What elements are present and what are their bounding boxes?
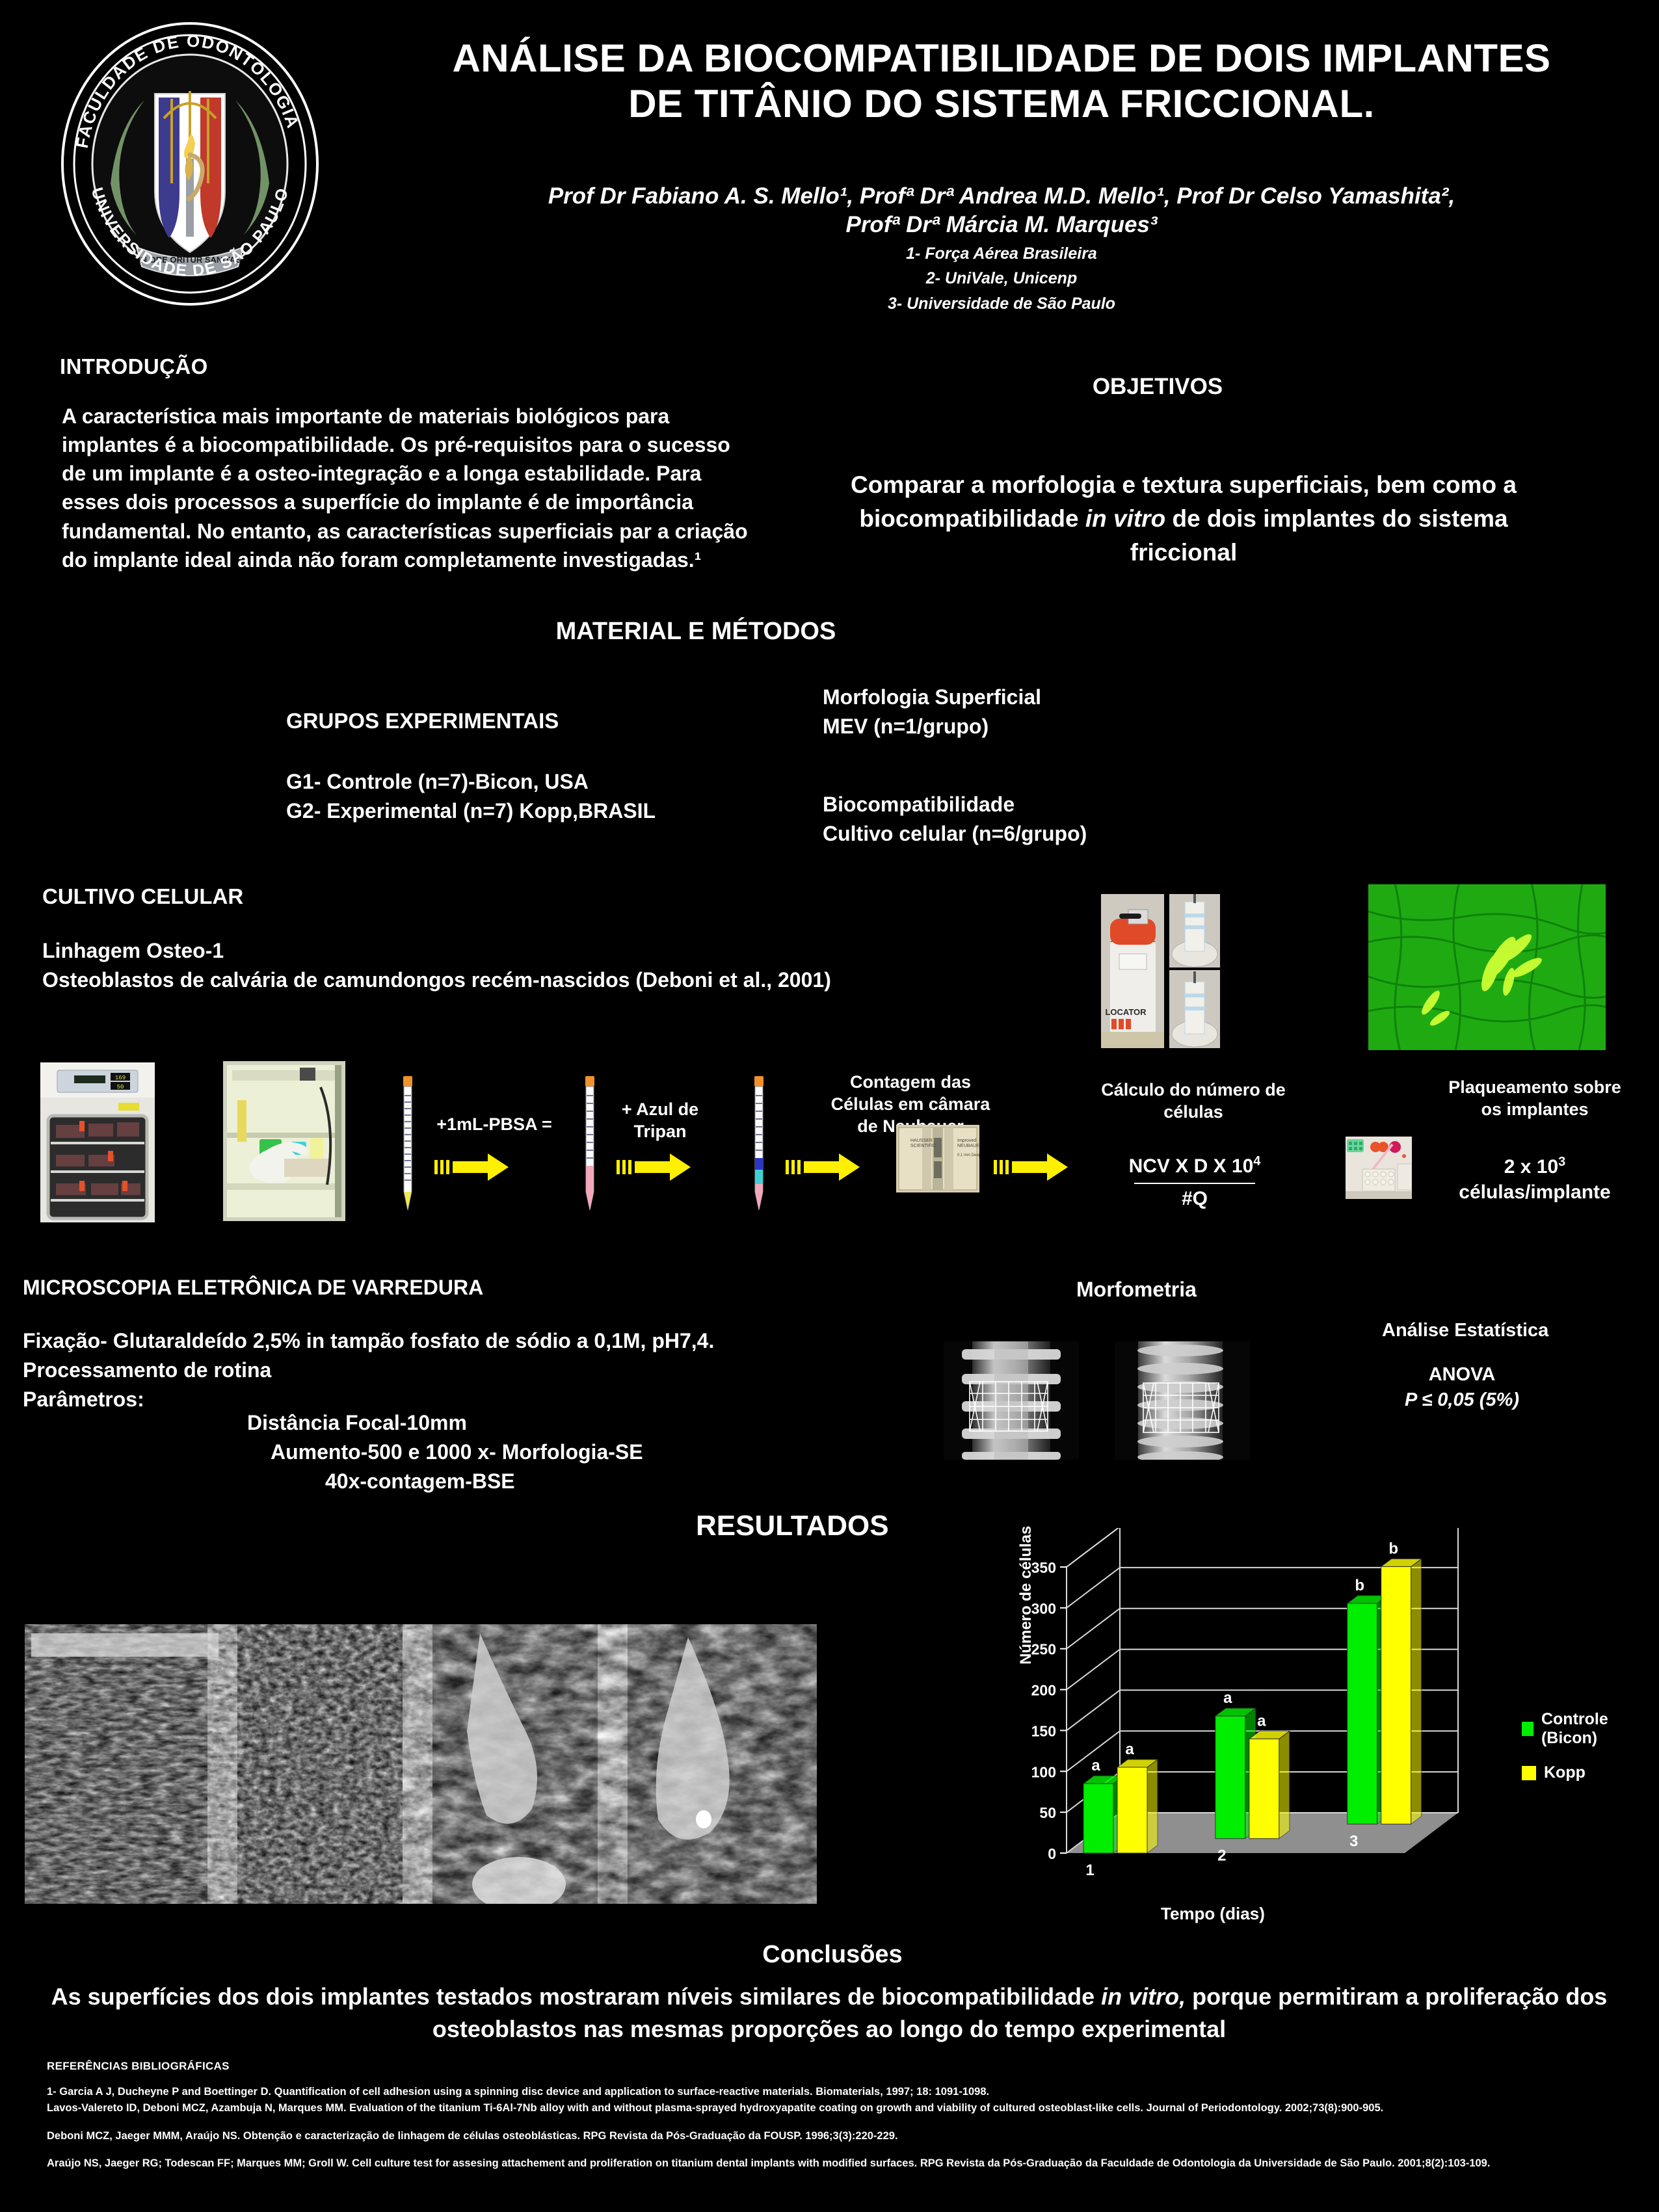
sem-param-1: Distância Focal-10mm (247, 1408, 643, 1438)
biocompatibility-line-1: Biocompatibilidade (823, 790, 1087, 819)
svg-text:0,1 mm Deep: 0,1 mm Deep (957, 1153, 979, 1157)
results-bar-chart: Número de células Tempo (dias) 050100150… (1021, 1528, 1645, 1931)
legend-item-0: Controle (Bicon) (1522, 1710, 1645, 1748)
flow-label-step4: Cálculo do número de células (1099, 1079, 1288, 1124)
references-heading: REFERÊNCIAS BIBLIOGRÁFICAS (47, 2060, 230, 2073)
flow-label-step2: + Azul de Tripan (611, 1099, 709, 1143)
centrifuge-tube-2 (577, 1076, 601, 1219)
formula-numerator: NCV X D X 104 (1113, 1154, 1276, 1178)
chart-legend: Controle (Bicon) Kopp (1522, 1710, 1645, 1798)
photo-plating-multiwell (1346, 1137, 1412, 1199)
legend-label-0: Controle (Bicon) (1541, 1710, 1645, 1748)
svg-text:150: 150 (1031, 1722, 1056, 1739)
sem-parameters: Distância Focal-10mm Aumento-500 e 1000 … (247, 1408, 643, 1495)
legend-label-1: Kopp (1544, 1763, 1586, 1782)
flow-arrow-1 (434, 1151, 512, 1183)
conclusion-heading: Conclusões (650, 1941, 1015, 1969)
svg-text:1: 1 (1085, 1862, 1094, 1879)
reference-4: Araújo NS, Jaeger RG; Todescan FF; Marqu… (47, 2155, 1627, 2172)
methods-heading: MATERIAL E MÉTODOS (468, 618, 923, 646)
implant-micrograph-bicon (944, 1341, 1079, 1460)
svg-text:a: a (1223, 1689, 1232, 1707)
sem-param-2: Aumento-500 e 1000 x- Morfologia-SE (271, 1438, 643, 1467)
photo-neubauer-chamber: HAUSSER SCIENTIFIC Improved NEUBAUER 0,1… (896, 1125, 979, 1192)
formula-denominator: #Q (1113, 1188, 1276, 1210)
objectives-italic: in vitro (1085, 505, 1165, 532)
formula-exponent: 4 (1253, 1154, 1260, 1168)
svg-text:169: 169 (115, 1075, 126, 1081)
objectives-part-2: de dois implantes do sistema friccional (1130, 505, 1508, 566)
legend-item-1: Kopp (1522, 1763, 1645, 1782)
svg-text:NEUBAUER: NEUBAUER (957, 1144, 979, 1148)
conclusion-italic: in vitro, (1101, 1983, 1186, 2010)
experimental-groups-heading: GRUPOS EXPERIMENTAIS (286, 709, 559, 733)
title-line-1: ANÁLISE DA BIOCOMPATIBILIDADE DE DOIS IM… (364, 36, 1639, 81)
photo-nitrogen-tank: LOCATOR (1101, 894, 1164, 1048)
cell-culture-heading: CULTIVO CELULAR (42, 884, 243, 909)
sem-heading: MICROSCOPIA ELETRÔNICA DE VARREDURA (23, 1276, 483, 1300)
svg-text:100: 100 (1031, 1763, 1056, 1780)
flow-label-step1: +1mL-PBSA = (429, 1114, 559, 1136)
plating-exponent: 3 (1558, 1155, 1565, 1169)
svg-text:0: 0 (1048, 1845, 1056, 1862)
chart-x-axis-label: Tempo (dias) (1161, 1904, 1265, 1924)
group-1: G1- Controle (n=7)-Bicon, USA (286, 767, 656, 797)
svg-text:LOCATOR: LOCATOR (1105, 1007, 1147, 1017)
reference-3: Deboni MCZ, Jaeger MMM, Araújo NS. Obten… (47, 2128, 1627, 2144)
legend-swatch-0 (1522, 1722, 1533, 1736)
morphology-line-2: MEV (n=1/grupo) (823, 712, 1041, 741)
flow-arrow-4 (994, 1151, 1072, 1183)
objectives-heading: OBJETIVOS (910, 374, 1405, 400)
conclusion-part-1: As superfícies dos dois implantes testad… (51, 1983, 1102, 2010)
title-line-2: DE TITÂNIO DO SISTEMA FRICCIONAL. (364, 81, 1639, 127)
centrifuge-tube-1 (395, 1076, 419, 1219)
reference-1: 1- Garcia A J, Ducheyne P and Boettinger… (47, 2084, 1627, 2100)
chart-y-axis-label: Número de células (1017, 1526, 1035, 1665)
centrifuge-tube-3 (747, 1076, 770, 1219)
flow-arrow-2 (617, 1151, 695, 1183)
flow-arrow-3 (786, 1151, 864, 1183)
usp-fo-logo: IN ORE ORITUR SANITAS FACULDADE DE ODONT… (60, 21, 320, 307)
conclusion-body: As superfícies dos dois implantes testad… (26, 1981, 1632, 2046)
cell-culture-body: Linhagem Osteo-1 Osteoblastos de calvári… (42, 936, 831, 995)
biocompatibility-line-2: Cultivo celular (n=6/grupo) (823, 819, 1087, 849)
cell-count-formula: NCV X D X 104 #Q (1113, 1154, 1276, 1210)
statistics-p-value: P ≤ 0,05 (5%) (1405, 1388, 1519, 1413)
authors-line-2: Profª Drª Márcia M. Marques³ (364, 211, 1639, 239)
svg-text:a: a (1257, 1712, 1266, 1730)
svg-text:Improved: Improved (957, 1139, 976, 1143)
photo-incubator: 169 50 (40, 1062, 155, 1222)
affiliation-2: 2- UniVale, Unicenp (364, 268, 1639, 289)
sem-body: Fixação- Glutaraldeído 2,5% in tampão fo… (23, 1326, 771, 1414)
experimental-groups-list: G1- Controle (n=7)-Bicon, USA G2- Experi… (286, 767, 656, 826)
statistics-test: ANOVA (1405, 1362, 1519, 1388)
authors-line-1: Prof Dr Fabiano A. S. Mello¹, Profª Drª … (364, 182, 1639, 211)
svg-text:a: a (1091, 1757, 1100, 1774)
implant-micrograph-kopp (1115, 1341, 1250, 1460)
morphometry-heading: Morfometria (1076, 1278, 1197, 1302)
cell-source: Osteoblastos de calvária de camundongos … (42, 966, 831, 995)
introduction-body: A característica mais importante de mate… (62, 402, 758, 574)
photo-cryo-box-top (1169, 894, 1220, 968)
cell-line: Linhagem Osteo-1 (42, 936, 831, 966)
group-2: G2- Experimental (n=7) Kopp,BRASIL (286, 797, 656, 826)
photo-laminar-flow-hood (223, 1061, 345, 1221)
authors-block: Prof Dr Fabiano A. S. Mello¹, Profª Drª … (364, 182, 1639, 314)
svg-text:50: 50 (1039, 1804, 1056, 1821)
objectives-body: Comparar a morfologia e textura superfic… (839, 468, 1528, 569)
plating-unit: células/implante (1431, 1179, 1639, 1205)
svg-text:HAUSSER: HAUSSER (910, 1139, 933, 1143)
results-heading: RESULTADOS (696, 1510, 889, 1542)
affiliation-3: 3- Universidade de São Paulo (364, 293, 1639, 315)
references-body: 1- Garcia A J, Ducheyne P and Boettinger… (47, 2084, 1627, 2183)
svg-text:b: b (1388, 1540, 1398, 1557)
morphology-line-1: Morfologia Superficial (823, 683, 1041, 712)
biocompatibility-block: Biocompatibilidade Cultivo celular (n=6/… (823, 790, 1087, 849)
svg-text:2: 2 (1217, 1847, 1226, 1865)
photo-cryo-box-bottom (1169, 970, 1220, 1048)
plating-density-value: 2 x 103 células/implante (1431, 1153, 1639, 1205)
sem-results-panel (25, 1624, 817, 1904)
svg-text:200: 200 (1031, 1682, 1056, 1699)
legend-swatch-1 (1522, 1766, 1536, 1780)
affiliation-1: 1- Força Aérea Brasileira (364, 243, 1639, 265)
svg-text:b: b (1355, 1577, 1364, 1594)
morphology-block: Morfologia Superficial MEV (n=1/grupo) (823, 683, 1041, 741)
statistics-body: ANOVA P ≤ 0,05 (5%) (1405, 1362, 1519, 1413)
reference-2: Lavos-Valereto ID, Deboni MCZ, Azambuja … (47, 2100, 1627, 2116)
plating-main: 2 x 10 (1504, 1156, 1558, 1178)
svg-text:SCIENTIFIC: SCIENTIFIC (910, 1144, 936, 1148)
page-title: ANÁLISE DA BIOCOMPATIBILIDADE DE DOIS IM… (364, 36, 1639, 126)
sem-fixation: Fixação- Glutaraldeído 2,5% in tampão fo… (23, 1326, 771, 1356)
svg-text:a: a (1125, 1741, 1134, 1758)
photo-green-cell-culture (1368, 884, 1606, 1050)
introduction-heading: INTRODUÇÃO (60, 354, 208, 379)
flow-label-plating: Plaqueamento sobre os implantes (1437, 1077, 1632, 1121)
svg-text:50: 50 (117, 1084, 124, 1090)
sem-processing: Processamento de rotina (23, 1356, 771, 1385)
statistics-heading: Análise Estatística (1382, 1320, 1548, 1341)
svg-text:3: 3 (1349, 1832, 1358, 1850)
sem-param-3: 40x-contagem-BSE (325, 1467, 643, 1496)
